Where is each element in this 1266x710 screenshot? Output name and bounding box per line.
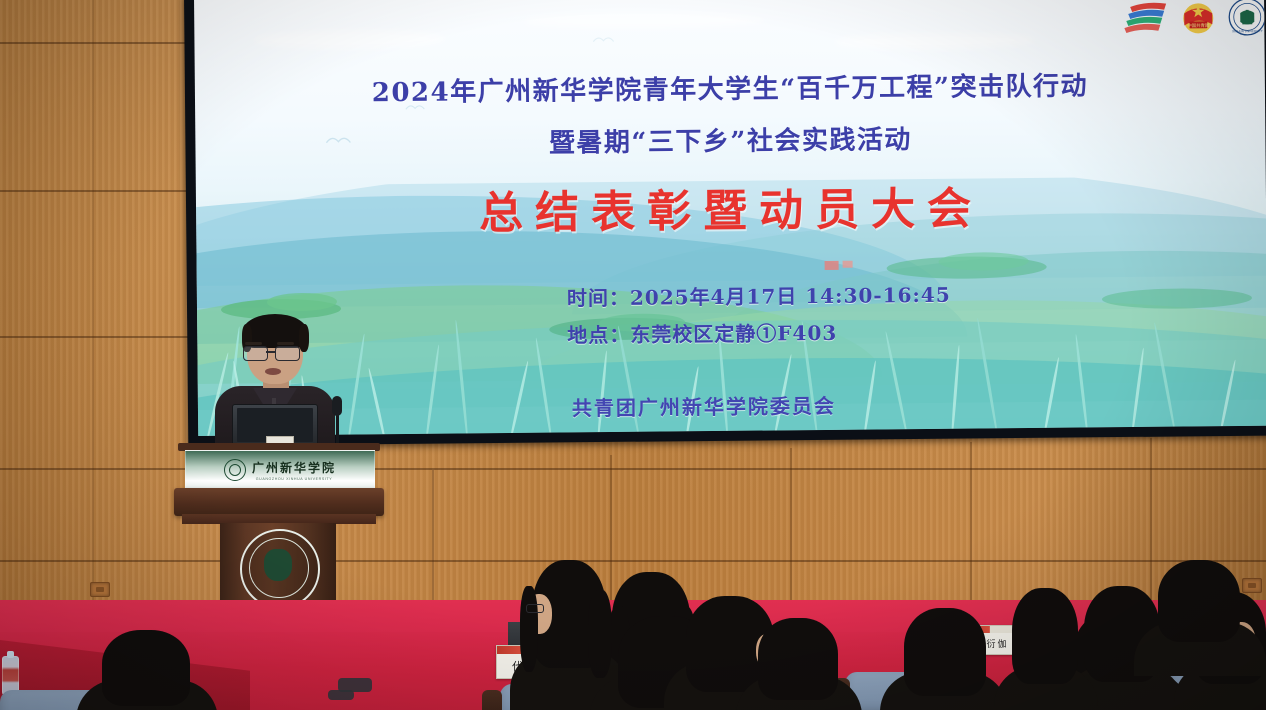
audience-person — [888, 608, 1000, 710]
slide-subtitle-line2: 暨暑期“三下乡”社会实践活动 — [195, 116, 1265, 163]
podium-university-name-en: GUANGZHOU XINHUA UNIVERSITY — [252, 477, 336, 481]
slide-main-title: 总结表彰暨动员大会 — [196, 170, 1266, 244]
podium-lip — [174, 488, 384, 516]
university-seal-icon — [224, 459, 246, 481]
audience-person — [744, 618, 852, 710]
audience-person — [86, 630, 206, 710]
podium-university-name: 广州新华学院 — [252, 459, 336, 476]
eyeglasses-icon — [275, 346, 300, 361]
wall-vertical-seam — [970, 442, 972, 622]
speaker-eyebrow — [245, 342, 262, 345]
seat-frame — [482, 690, 502, 710]
slide-text-block: 2024年广州新华学院青年大学生“百千万工程”突击队行动 暨暑期“三下乡”社会实… — [194, 0, 1266, 436]
speaker-mouth — [265, 368, 281, 375]
auditorium-scene: 中国共青团 XINHUA UNIVERSITY — [0, 0, 1266, 710]
eyeglasses-bridge — [266, 351, 275, 353]
eyeglasses-icon — [526, 604, 544, 613]
audience-person — [1140, 560, 1258, 670]
slide-subtitle-line1: 2024年广州新华学院青年大学生“百千万工程”突击队行动 — [195, 64, 1265, 111]
wall-vertical-seam — [92, 0, 94, 640]
microphone-head-icon — [332, 396, 342, 416]
podium-emblem-shield — [264, 549, 292, 581]
power-outlet-icon — [90, 582, 110, 597]
slide-organizer-label: 共青团广州新华学院委员会 — [572, 390, 836, 422]
led-screen[interactable]: 中国共青团 XINHUA UNIVERSITY — [194, 0, 1266, 436]
slide-time-label: 时间：2025年4月17日 14:30-16:45 — [567, 279, 951, 312]
floor-cable — [328, 690, 354, 700]
speaker-hair-side — [299, 324, 309, 352]
podium-front-panel: 广州新华学院 GUANGZHOU XINHUA UNIVERSITY — [185, 450, 375, 490]
eyeglasses-icon — [243, 346, 268, 361]
speaker-eyebrow — [277, 342, 294, 345]
audience-person — [1000, 588, 1090, 710]
podium-emblem — [240, 529, 320, 609]
slide-place-label: 地点：东莞校区定静①F403 — [567, 317, 837, 349]
